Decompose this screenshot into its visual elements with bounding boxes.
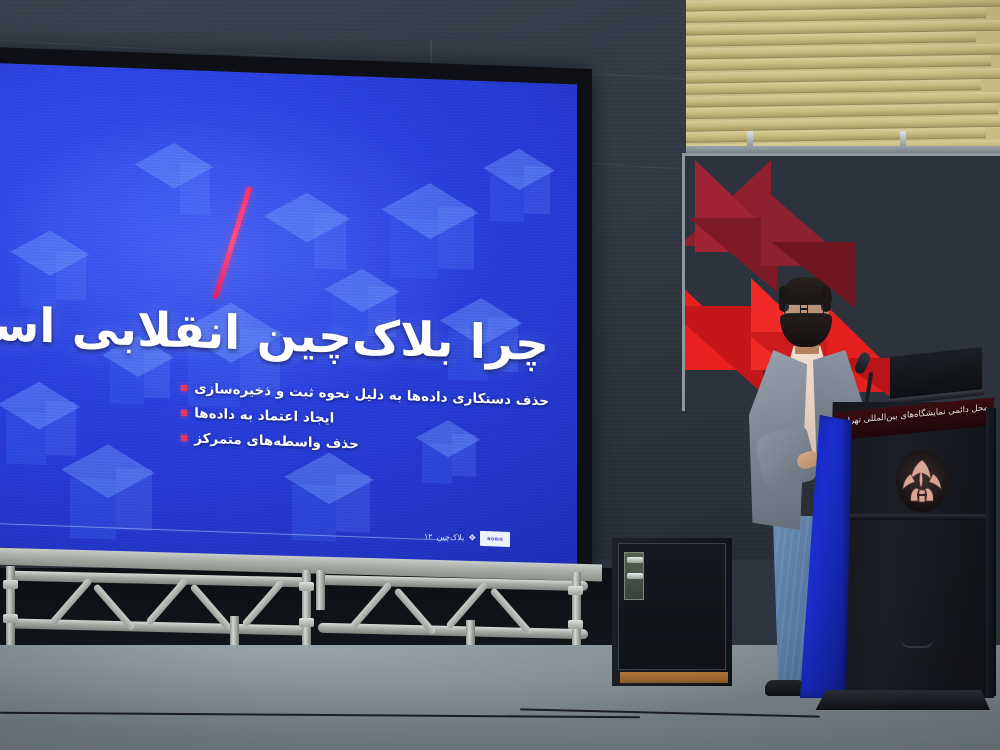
speaker-base <box>620 672 728 683</box>
slide-footer: NOBIE ❖ بلاک‌چین ۱۲ <box>424 529 510 547</box>
slide-page-number: ۱۲ <box>424 532 433 541</box>
slide-bullet-list: حذف دستکاری داده‌ها به دلیل نحوه ثبت و ذ… <box>181 380 549 463</box>
podium: محل دائمی نمایشگاه‌های بین‌المللی تهران <box>800 402 994 710</box>
podium-notch <box>900 638 934 648</box>
conference-photo: چرا بلاک‌چین انقلابی است؟ حذف دستکاری دا… <box>0 0 1000 750</box>
list-item: ایجاد اعتماد به داده‌ها <box>181 405 549 434</box>
bullet-text: ایجاد اعتماد به داده‌ها <box>194 405 334 426</box>
led-screen: چرا بلاک‌چین انقلابی است؟ حذف دستکاری دا… <box>0 63 577 568</box>
pink-accent-line <box>213 186 252 299</box>
list-item: حذف دستکاری داده‌ها به دلیل نحوه ثبت و ذ… <box>181 380 549 409</box>
podium-shelf <box>834 514 994 520</box>
bullet-text: حذف دستکاری داده‌ها به دلیل نحوه ثبت و ذ… <box>194 380 549 409</box>
sponsor-logo-icon: NOBIE <box>480 531 510 547</box>
bullet-text: حذف واسطه‌های متمرکز <box>194 430 359 452</box>
brand-name: بلاک‌چین <box>437 532 465 542</box>
eyeglasses-icon <box>807 303 824 315</box>
footer-rule <box>0 523 447 541</box>
led-screen-frame: چرا بلاک‌چین انقلابی است؟ حذف دستکاری دا… <box>0 47 592 579</box>
presenter-beard <box>780 313 832 347</box>
bullet-marker-icon <box>181 385 187 391</box>
simurgh-emblem-icon <box>896 450 948 512</box>
slide-title: چرا بلاک‌چین انقلابی است؟ <box>0 296 549 372</box>
eyeglasses-bridge <box>801 308 807 310</box>
bullet-marker-icon <box>181 410 187 416</box>
list-item: حذف واسطه‌های متمرکز <box>181 430 549 459</box>
podium-front-panel <box>800 415 852 698</box>
wall-bolt <box>900 131 906 147</box>
speaker-connector-plate <box>624 552 644 600</box>
podium-side <box>986 408 996 696</box>
podium-base <box>812 690 990 710</box>
eyeglasses-icon <box>784 303 801 315</box>
bullet-marker-icon <box>181 435 187 441</box>
wall-bolt <box>747 131 753 147</box>
brand-mark-icon: ❖ <box>468 533 476 543</box>
brick-wall <box>686 0 1000 152</box>
